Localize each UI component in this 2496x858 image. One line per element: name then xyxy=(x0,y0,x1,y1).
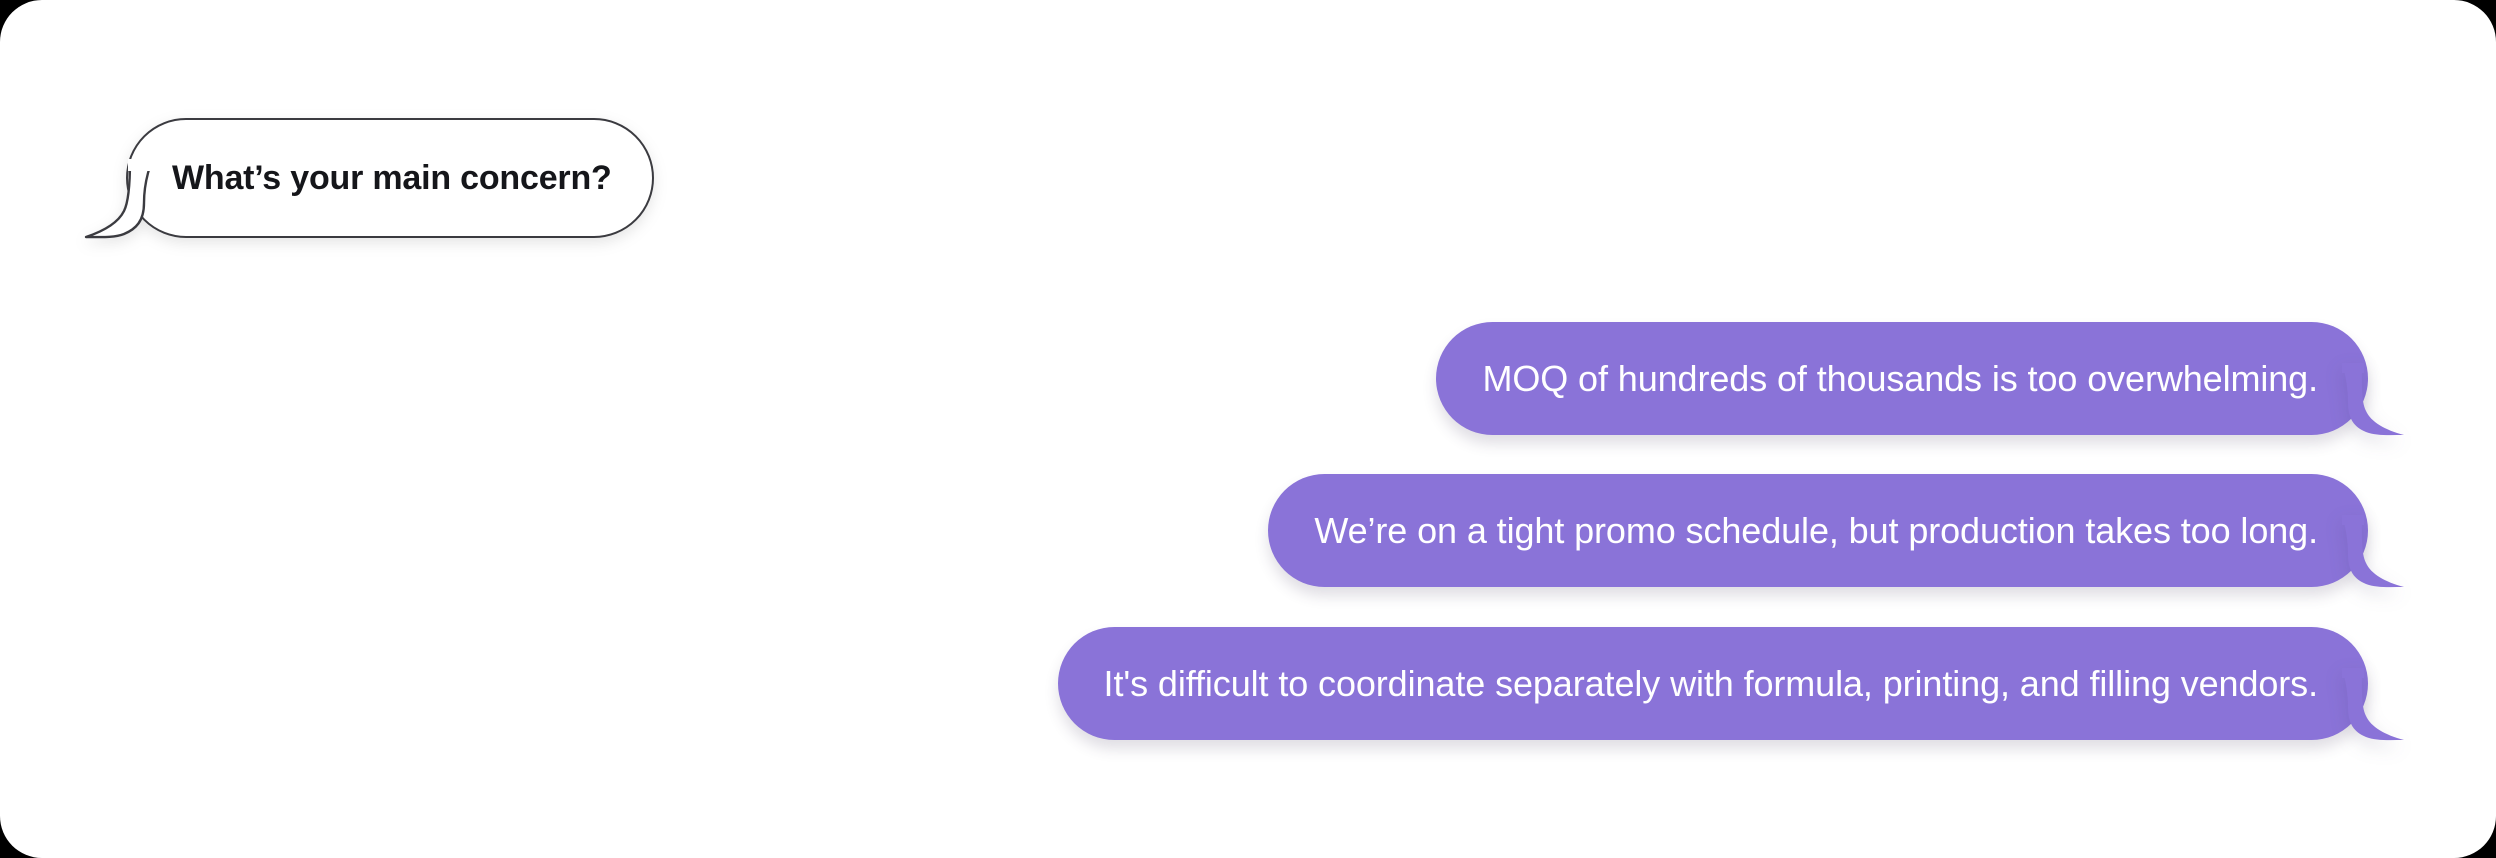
bubble-tail-right-icon xyxy=(2342,363,2408,437)
message-row-outgoing: We’re on a tight promo schedule, but pro… xyxy=(0,474,2496,587)
chat-bubble-outgoing[interactable]: We’re on a tight promo schedule, but pro… xyxy=(1268,474,2368,587)
bubble-tail-right-icon xyxy=(2342,668,2408,742)
chat-bubble-outgoing[interactable]: MOQ of hundreds of thousands is too over… xyxy=(1436,322,2368,435)
chat-canvas: What’s your main concern? MOQ of hundred… xyxy=(0,0,2496,858)
message-text: It's difficult to coordinate separately … xyxy=(1104,666,2318,702)
message-text: What’s your main concern? xyxy=(172,161,612,195)
message-row-outgoing: It's difficult to coordinate separately … xyxy=(0,627,2496,740)
bubble-tail-left-icon xyxy=(84,159,154,239)
message-row-incoming: What’s your main concern? xyxy=(0,118,2496,238)
bubble-tail-right-icon xyxy=(2342,515,2408,589)
message-text: We’re on a tight promo schedule, but pro… xyxy=(1314,513,2318,549)
message-text: MOQ of hundreds of thousands is too over… xyxy=(1482,361,2318,397)
message-row-outgoing: MOQ of hundreds of thousands is too over… xyxy=(0,322,2496,435)
chat-bubble-incoming[interactable]: What’s your main concern? xyxy=(126,118,654,238)
chat-bubble-outgoing[interactable]: It's difficult to coordinate separately … xyxy=(1058,627,2368,740)
